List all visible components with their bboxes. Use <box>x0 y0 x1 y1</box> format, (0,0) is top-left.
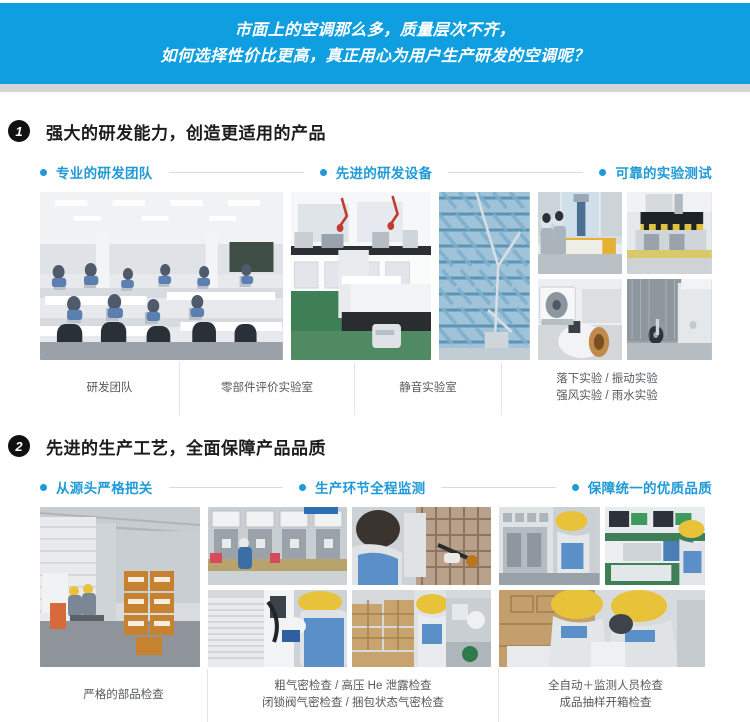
section-1-captions: 研发团队 零部件评价实验室 静音实验室 落下实验 / 振动实验 强风实验 / 雨… <box>40 362 712 415</box>
header-banner-wrap: 市面上的空调那么多，质量层次不齐， 如何选择性价比更高，真正用心为用户生产研发的… <box>0 0 750 84</box>
banner-bottom-strip <box>0 84 750 92</box>
caption-line: 严格的部品检查 <box>83 687 164 704</box>
photo-rnd-office-art <box>40 192 283 360</box>
caption-line: 零部件评价实验室 <box>221 380 313 397</box>
photo-airtight-check <box>208 590 347 667</box>
subhead-rnd-team: 专业的研发团队 <box>40 162 153 182</box>
caption-reliability-tests: 落下实验 / 振动实验 强风实验 / 雨水实验 <box>502 362 712 415</box>
caption-airtight-checks: 粗气密检查 / 高压 He 泄露检查 闭锁阀气密检查 / 捆包状态气密检查 <box>208 669 499 722</box>
photo-rain-test <box>627 279 712 360</box>
photo-warehouse-inspection <box>40 507 200 667</box>
photo-airtight-check-art <box>208 590 347 667</box>
caption-line: 闭锁阀气密检查 / 捆包状态气密检查 <box>262 695 444 712</box>
photo-packing-check-art <box>352 590 491 667</box>
caption-line: 全自动＋监测人员检查 <box>548 678 663 695</box>
image-col-parts-inspection <box>40 507 200 667</box>
photo-automatic-equipment <box>499 507 600 585</box>
photo-drop-test <box>538 192 623 274</box>
section-1-number-badge: 1 <box>8 120 30 142</box>
bullet-dot-icon <box>320 169 327 176</box>
subhead-label: 先进的研发设备 <box>336 162 433 182</box>
photo-drop-test-art <box>538 192 623 274</box>
subhead-divider-rule <box>169 172 304 173</box>
section-rnd-capability: 1 强大的研发能力，创造更适用的产品 专业的研发团队 先进的研发设备 可靠的实验… <box>0 114 750 415</box>
header-banner: 市面上的空调那么多，质量层次不齐， 如何选择性价比更高，真正用心为用户生产研发的… <box>0 3 750 84</box>
subhead-rnd-equipment: 先进的研发设备 <box>320 162 433 182</box>
section-2-subheads: 从源头严格把关 生产环节全程监测 保障统一的优质品质 <box>40 477 712 497</box>
caption-line: 静音实验室 <box>399 380 457 397</box>
photo-sample-unboxing-check <box>499 590 705 667</box>
subhead-uniform-quality: 保障统一的优质品质 <box>572 477 712 497</box>
section-production-process: 2 先进的生产工艺，全面保障产品品质 从源头严格把关 生产环节全程监测 保障统一… <box>0 429 750 722</box>
section-1-title: 强大的研发能力，创造更适用的产品 <box>46 119 326 144</box>
image-col-rnd-team <box>40 192 283 360</box>
photo-vibration-test <box>627 192 712 274</box>
section-spacer <box>0 415 750 429</box>
caption-rnd-team: 研发团队 <box>40 362 180 415</box>
photo-parts-lab-art <box>291 192 431 360</box>
production-grid-row-bottom <box>208 590 491 667</box>
subhead-label: 生产环节全程监测 <box>315 477 425 497</box>
image-col-rnd-equipment <box>291 192 431 360</box>
photo-he-leak-check <box>352 507 491 585</box>
image-col-quiet-lab <box>439 192 530 360</box>
photo-warehouse-inspection-art <box>40 507 200 667</box>
photo-anechoic-chamber <box>439 192 530 360</box>
subhead-reliable-testing: 可靠的实验测试 <box>599 162 712 182</box>
photo-he-leak-check-art <box>352 507 491 585</box>
section-2-header: 2 先进的生产工艺，全面保障产品品质 <box>0 429 750 463</box>
quality-grid-row-top <box>499 507 705 585</box>
section-1-image-grid <box>40 192 712 360</box>
photo-rain-test-art <box>627 279 712 360</box>
image-col-quality-assurance <box>499 507 705 667</box>
section-2-captions: 严格的部品检查 粗气密检查 / 高压 He 泄露检查 闭锁阀气密检查 / 捆包状… <box>40 669 712 722</box>
bullet-dot-icon <box>599 169 606 176</box>
subhead-divider-rule <box>448 172 583 173</box>
subhead-source-control: 从源头严格把关 <box>40 477 153 497</box>
production-grid-row-top <box>208 507 491 585</box>
banner-line-2: 如何选择性价比更高，真正用心为用户生产研发的空调呢？ <box>160 44 589 70</box>
photo-sample-unboxing-check-art <box>499 590 705 667</box>
banner-line-1: 市面上的空调那么多，质量层次不齐， <box>235 18 516 44</box>
section-2-image-grid <box>40 507 712 667</box>
test-grid-row-bottom <box>538 279 712 360</box>
subhead-divider-rule <box>441 487 555 488</box>
subhead-label: 可靠的实验测试 <box>615 162 712 182</box>
subhead-process-monitoring: 生产环节全程监测 <box>299 477 425 497</box>
subhead-label: 保障统一的优质品质 <box>588 477 712 497</box>
caption-line: 研发团队 <box>87 380 133 397</box>
caption-line: 落下实验 / 振动实验 <box>556 371 658 388</box>
section-2-title: 先进的生产工艺，全面保障产品品质 <box>46 434 326 459</box>
photo-automatic-equipment-art <box>499 507 600 585</box>
caption-parts-lab: 零部件评价实验室 <box>180 362 355 415</box>
caption-parts-inspection: 严格的部品检查 <box>40 669 208 722</box>
subhead-divider-rule <box>169 487 283 488</box>
banner-spacer <box>0 92 750 114</box>
bullet-dot-icon <box>572 484 579 491</box>
subhead-label: 从源头严格把关 <box>56 477 153 497</box>
caption-quiet-lab: 静音实验室 <box>355 362 502 415</box>
photo-assembly-line-art <box>208 507 347 585</box>
photo-strong-wind-test <box>538 279 623 360</box>
image-col-production-monitoring <box>208 507 491 667</box>
bullet-dot-icon <box>40 169 47 176</box>
caption-line: 粗气密检查 / 高压 He 泄露检查 <box>274 678 431 695</box>
bullet-dot-icon <box>40 484 47 491</box>
subhead-label: 专业的研发团队 <box>56 162 153 182</box>
test-grid-row-top <box>538 192 712 274</box>
photo-packing-check <box>352 590 491 667</box>
photo-strong-wind-test-art <box>538 279 623 360</box>
bullet-dot-icon <box>299 484 306 491</box>
caption-line: 强风实验 / 雨水实验 <box>556 388 658 405</box>
photo-anechoic-chamber-art <box>439 192 530 360</box>
caption-line: 成品抽样开箱检查 <box>560 695 652 712</box>
photo-monitoring-station <box>605 507 706 585</box>
section-1-header: 1 强大的研发能力，创造更适用的产品 <box>0 114 750 148</box>
section-2-number-badge: 2 <box>8 435 30 457</box>
section-1-subheads: 专业的研发团队 先进的研发设备 可靠的实验测试 <box>40 162 712 182</box>
caption-quality-checks: 全自动＋监测人员检查 成品抽样开箱检查 <box>499 669 712 722</box>
image-col-reliability-tests <box>538 192 712 360</box>
photo-monitoring-station-art <box>605 507 706 585</box>
photo-rnd-office <box>40 192 283 360</box>
photo-vibration-test-art <box>627 192 712 274</box>
photo-assembly-line <box>208 507 347 585</box>
photo-parts-lab <box>291 192 431 360</box>
